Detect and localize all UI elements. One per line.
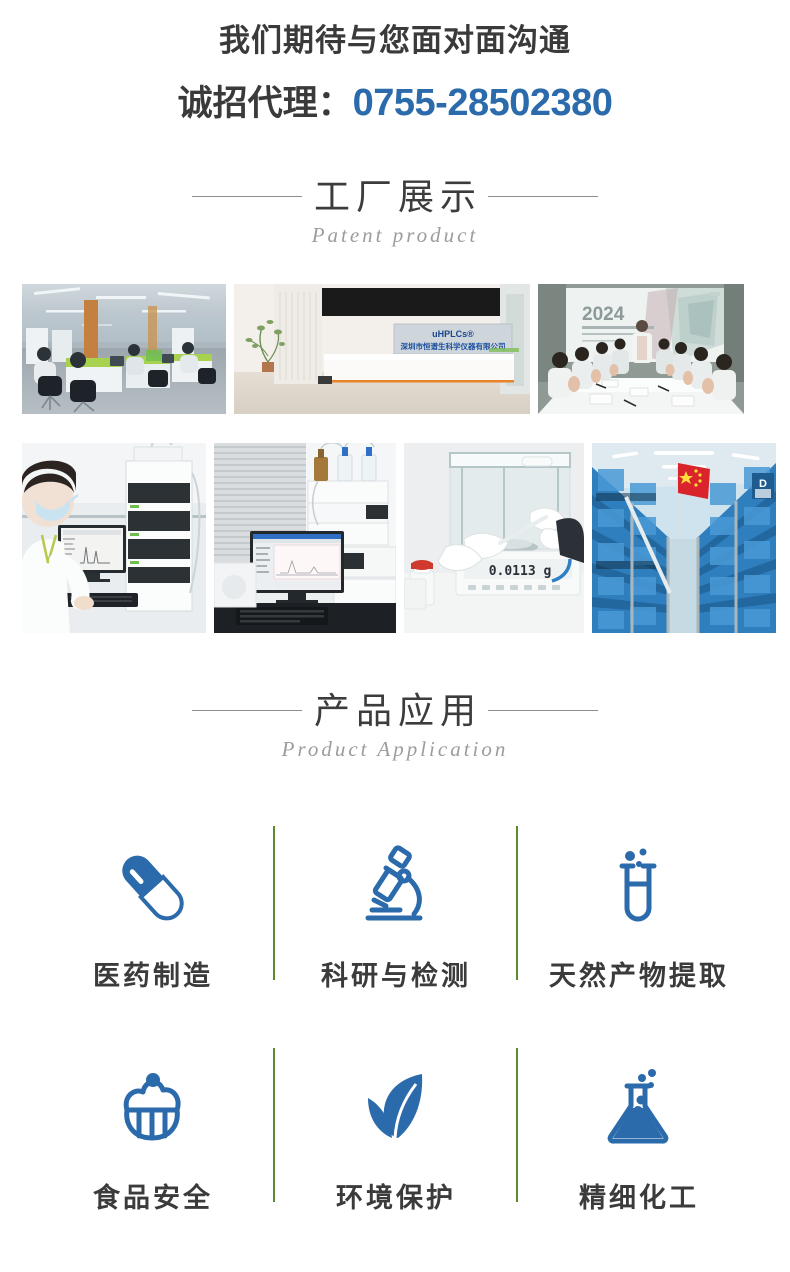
application-heading-cn: 产品应用 [302, 688, 488, 733]
hplc-operator-photo[interactable] [22, 443, 206, 633]
factory-heading-cn: 工厂展示 [302, 174, 488, 219]
balance-reading: 0.0113 g [489, 564, 552, 579]
header-tagline: 我们期待与您面对面沟通 [0, 18, 790, 65]
flask-icon [595, 1050, 681, 1168]
application-label: 天然产物提取 [546, 954, 729, 993]
application-heading-en: Product Application [0, 737, 790, 762]
page-header: 我们期待与您面对面沟通 诚招代理：0755-28502380 [0, 0, 790, 128]
reception-sign-brand: uHPLCs® [432, 329, 474, 339]
factory-photo-row-1: uHPLCs® 深圳市恒谱生科学仪器有限公司 [22, 284, 768, 414]
factory-photo-grid: uHPLCs® 深圳市恒谱生科学仪器有限公司 [22, 284, 768, 633]
application-label: 医药制造 [90, 954, 213, 993]
agent-recruit-line: 诚招代理：0755-28502380 [0, 79, 790, 128]
agent-recruit-label: 诚招代理： [178, 84, 353, 123]
meeting-slide-year: 2024 [582, 304, 625, 325]
heading-rule-left [192, 196, 302, 197]
application-label: 环境保护 [333, 1176, 456, 1215]
capsule-icon [109, 828, 195, 946]
open-plan-office-photo[interactable] [22, 284, 226, 414]
application-grid: 医药制造 科研与检测 [30, 818, 760, 1262]
application-item-fine-chemicals[interactable]: 精细化工 [516, 1040, 759, 1262]
factory-heading-en: Patent product [0, 223, 790, 248]
application-label: 科研与检测 [318, 954, 471, 993]
application-item-research[interactable]: 科研与检测 [273, 818, 516, 1040]
microscope-icon [352, 828, 438, 946]
leaf-icon [352, 1050, 438, 1168]
test-tube-icon [595, 828, 681, 946]
application-item-food-safety[interactable]: 食品安全 [30, 1040, 273, 1262]
meeting-room-photo[interactable]: 2024 [538, 284, 744, 414]
warehouse-photo[interactable]: D [592, 443, 776, 633]
application-section-heading: 产品应用 Product Application [0, 688, 790, 762]
application-heading-row: 产品应用 [0, 688, 790, 733]
reception-lobby-photo[interactable]: uHPLCs® 深圳市恒谱生科学仪器有限公司 [234, 284, 530, 414]
application-item-natural-extraction[interactable]: 天然产物提取 [516, 818, 759, 1040]
svg-text:D: D [759, 478, 767, 490]
hplc-workstation-photo[interactable] [214, 443, 396, 633]
factory-section-heading: 工厂展示 Patent product [0, 174, 790, 248]
application-label: 精细化工 [576, 1176, 699, 1215]
analytical-balance-photo[interactable]: 0.0113 g [404, 443, 584, 633]
heading-rule-right [488, 710, 598, 711]
application-item-environmental[interactable]: 环境保护 [273, 1040, 516, 1262]
cupcake-icon [109, 1050, 195, 1168]
phone-number[interactable]: 0755-28502380 [353, 82, 613, 124]
heading-rule-right [488, 196, 598, 197]
factory-heading-row: 工厂展示 [0, 174, 790, 219]
application-item-pharmaceutical[interactable]: 医药制造 [30, 818, 273, 1040]
factory-photo-row-2: 0.0113 g [22, 443, 768, 633]
application-label: 食品安全 [90, 1176, 213, 1215]
heading-rule-left [192, 710, 302, 711]
